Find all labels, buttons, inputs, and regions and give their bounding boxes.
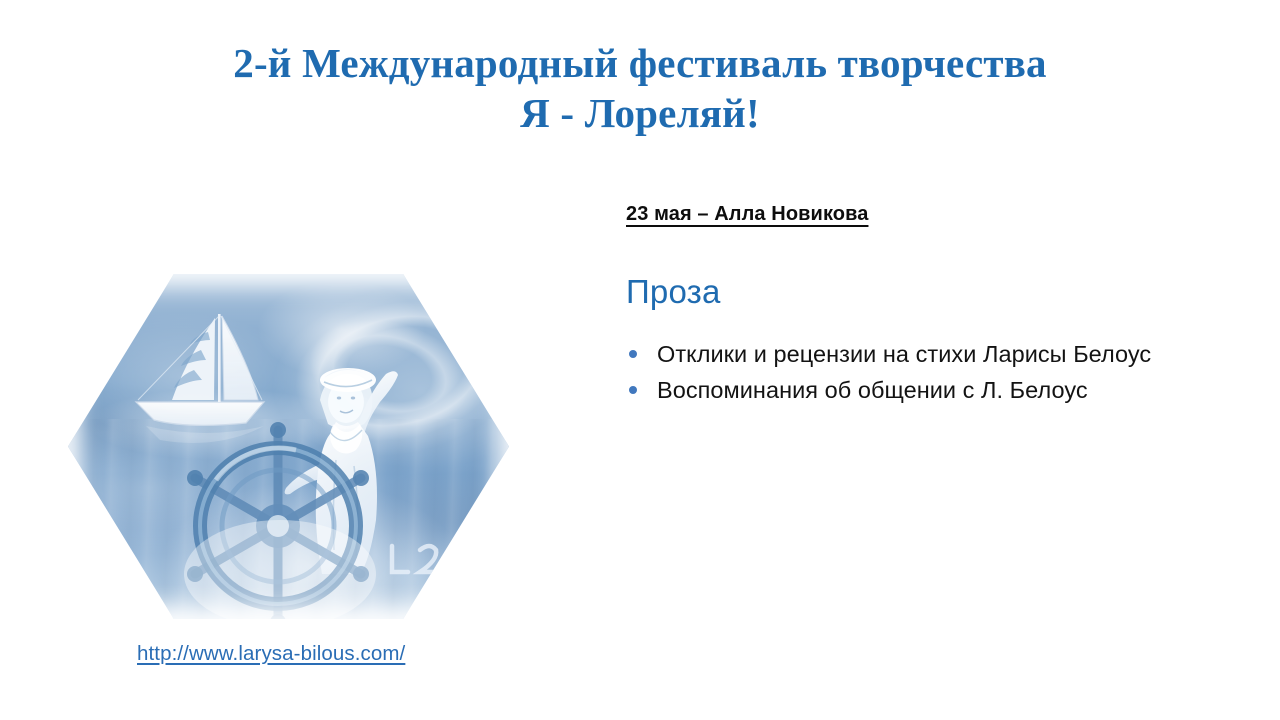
boat-mast [218,314,221,402]
website-link[interactable]: http://www.larysa-bilous.com/ [137,641,405,667]
list-item: Отклики и рецензии на стихи Ларисы Белоу… [626,337,1226,371]
section-heading: Проза [626,273,1226,311]
title-line-1: 2-й Международный фестиваль творчества [90,38,1190,88]
list-item: Воспоминания об общении с Л. Белоус [626,373,1226,407]
content-column: 23 мая – Алла Новикова Проза Отклики и р… [626,200,1226,409]
slide-canvas: 2-й Международный фестиваль творчества Я… [0,0,1280,720]
date-heading: 23 мая – Алла Новикова [626,200,868,228]
artist-signature [392,546,466,572]
bullet-list: Отклики и рецензии на стихи Ларисы Белоу… [626,337,1226,407]
bullet-dot-icon [629,350,637,358]
page-title: 2-й Международный фестиваль творчества Я… [90,38,1190,138]
list-item-label: Отклики и рецензии на стихи Ларисы Белоу… [657,341,1151,367]
date-heading-row: 23 мая – Алла Новикова [626,200,1226,228]
artwork-hexagon [68,274,509,619]
title-line-2: Я - Лореляй! [90,88,1190,138]
list-item-label: Воспоминания об общении с Л. Белоус [657,377,1088,403]
sailor-hat [320,368,376,392]
sailboat-figure [136,314,264,425]
painting-figures-svg [68,274,509,619]
bullet-dot-icon [629,386,637,394]
watercolor-painting [68,274,509,619]
